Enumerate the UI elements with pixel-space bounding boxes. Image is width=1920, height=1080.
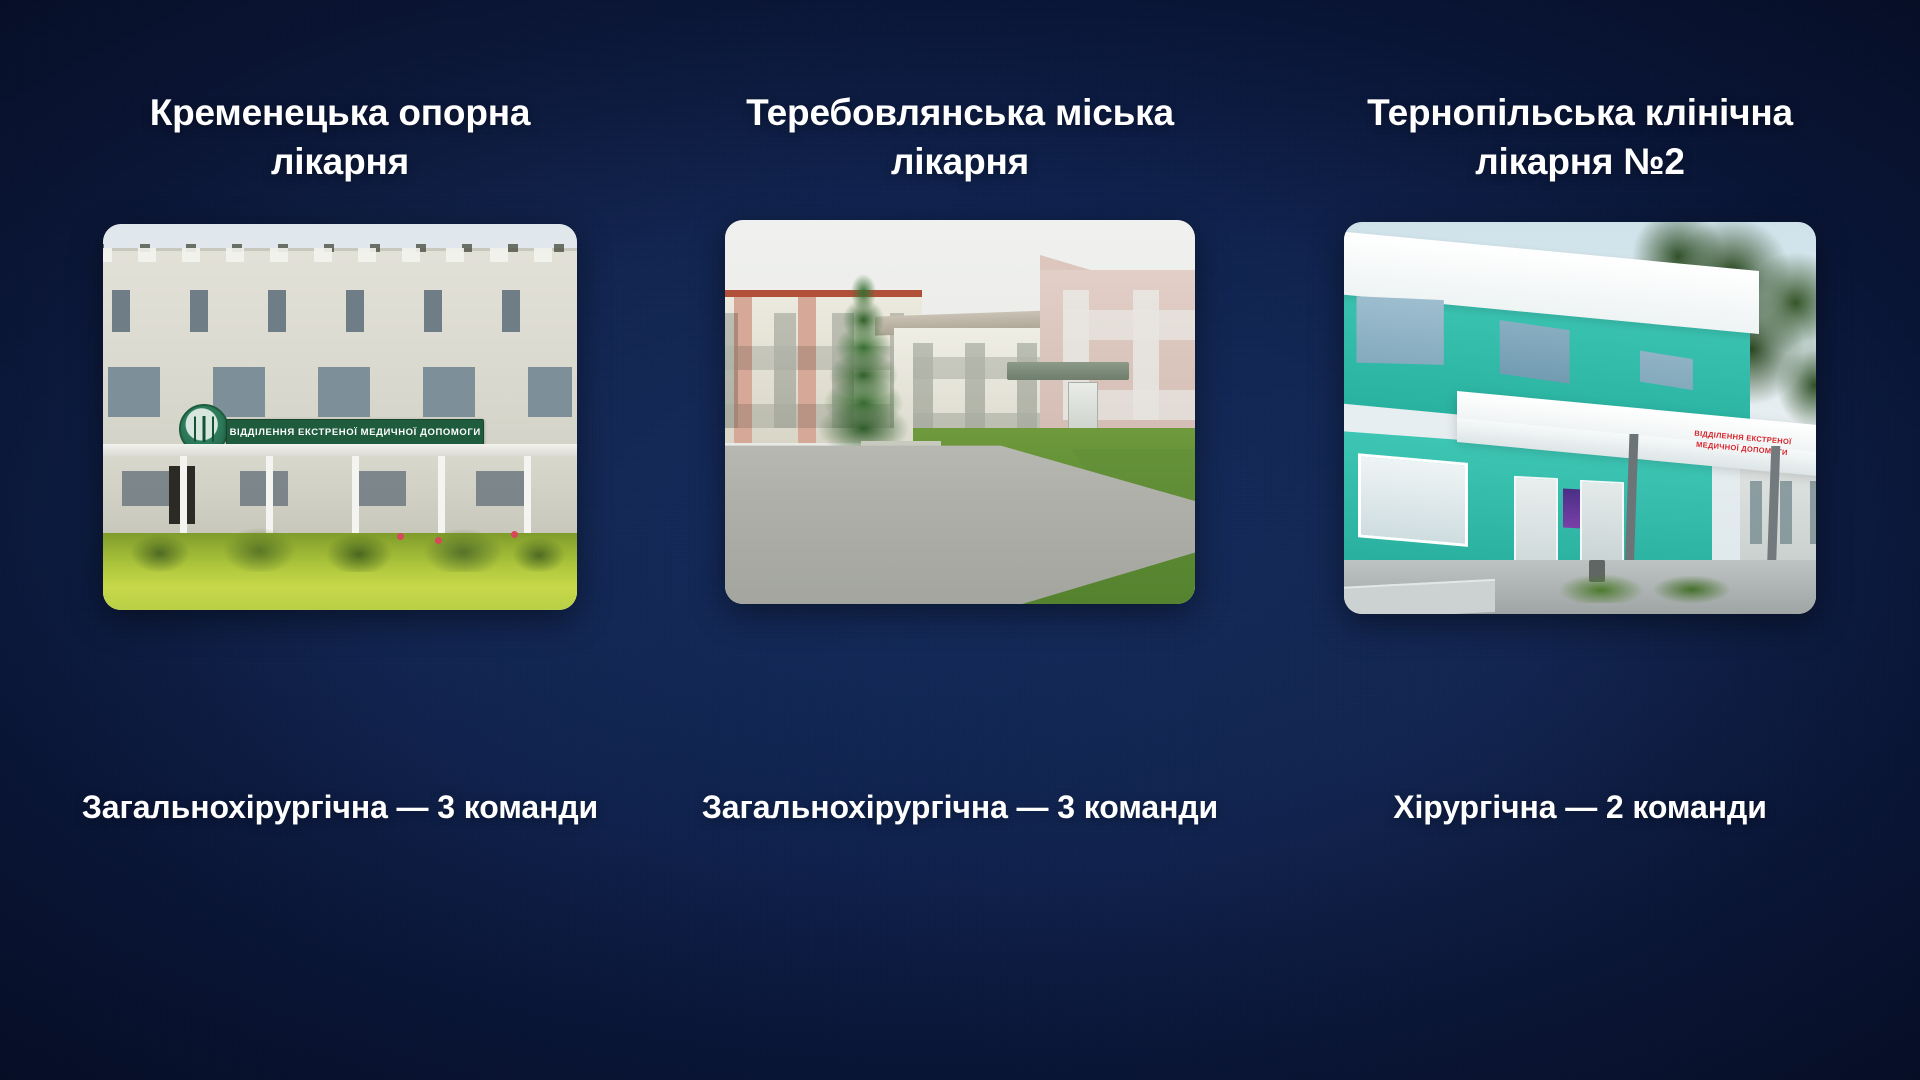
hospital-photo-2 [725, 220, 1195, 604]
hospital-caption-2: Загальнохірургічна — 3 команди [700, 786, 1220, 830]
hospital-caption-3: Хірургічна — 2 команди [1320, 786, 1840, 830]
flower [511, 531, 518, 538]
center-wing-windows [913, 343, 1045, 435]
window-row-middle [108, 367, 573, 417]
hospital-column-1: Кременецька опорна лікарня ВІДДІЛЕННЯ ЕК… [30, 0, 650, 610]
hospital-title-3: Тернопільська клінічна лікарня №2 [1330, 88, 1830, 186]
hospital-title-1: Кременецька опорна лікарня [90, 88, 590, 186]
photo-1-scene: ВІДДІЛЕННЯ ЕКСТРЕНОЇ МЕДИЧНОЇ ДОПОМОГИ [103, 224, 577, 610]
slide-root: Кременецька опорна лікарня ВІДДІЛЕННЯ ЕК… [0, 0, 1920, 1080]
hospital-caption-1: Загальнохірургічна — 3 команди [80, 786, 600, 830]
hospital-column-2: Теребовлянська міська лікарня [650, 0, 1270, 604]
window-row-upper [112, 290, 567, 332]
flower [435, 537, 442, 544]
emergency-department-sign: ВІДДІЛЕННЯ ЕКСТРЕНОЇ МЕДИЧНОЇ ДОПОМОГИ [226, 419, 484, 446]
hospital-title-2: Теребовлянська міська лікарня [710, 88, 1210, 186]
hospital-photo-3: ВІДДІЛЕННЯ ЕКСТРЕНОЇ МЕДИЧНОЇ ДОПОМОГИ [1344, 222, 1816, 614]
entrance-door-left [1514, 476, 1558, 572]
hospital-columns: Кременецька опорна лікарня ВІДДІЛЕННЯ ЕК… [0, 0, 1920, 1080]
hospital-photo-1: ВІДДІЛЕННЯ ЕКСТРЕНОЇ МЕДИЧНОЇ ДОПОМОГИ [103, 224, 577, 610]
spruce-tree [800, 263, 927, 447]
background-building-windows [1750, 481, 1816, 544]
photo-3-scene: ВІДДІЛЕННЯ ЕКСТРЕНОЇ МЕДИЧНОЇ ДОПОМОГИ [1344, 222, 1816, 614]
hospital-column-3: Тернопільська клінічна лікарня №2 [1270, 0, 1890, 614]
entrance-porch-roof [1007, 362, 1129, 379]
shrub-row [1542, 571, 1769, 602]
roof-caps [103, 248, 577, 262]
entrance-door [1068, 382, 1098, 430]
lower-window [1358, 453, 1468, 547]
photo-2-scene [725, 220, 1195, 604]
shrub-row [103, 525, 577, 571]
